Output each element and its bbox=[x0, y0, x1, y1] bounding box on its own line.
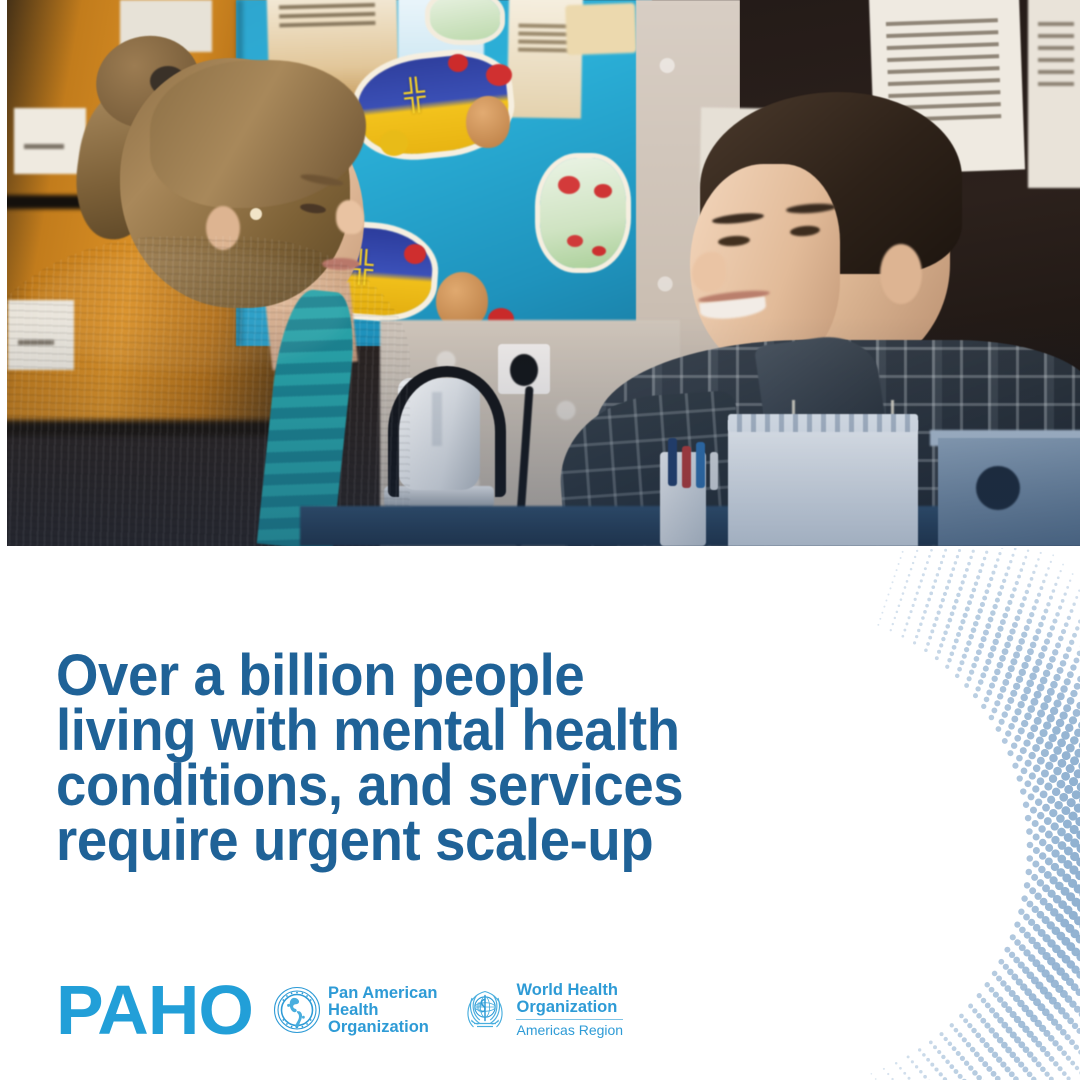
social-media-card: ╬ ╬ bbox=[0, 0, 1080, 1080]
who-logo-line-2: Organization bbox=[516, 999, 623, 1016]
paho-logo-line-1: Pan American bbox=[328, 985, 437, 1002]
paho-logo-text: Pan American Health Organization bbox=[328, 985, 437, 1036]
halftone-arc-svg bbox=[830, 548, 1080, 1080]
paho-logo-line-2: Health bbox=[328, 1002, 437, 1019]
paho-logo-line-3: Organization bbox=[328, 1019, 437, 1036]
world-health-organization-logo: World Health Organization Americas Regio… bbox=[461, 982, 623, 1038]
photo-left-margin bbox=[0, 0, 7, 546]
hero-photo: ╬ ╬ bbox=[0, 0, 1080, 546]
photo-color-grade bbox=[0, 0, 1080, 546]
page-title: Over a billion people living with mental… bbox=[56, 648, 808, 868]
halftone-arc bbox=[830, 548, 1080, 1080]
who-divider bbox=[516, 1019, 623, 1020]
who-logo-name: World Health Organization bbox=[516, 982, 623, 1016]
who-logo-line-1: World Health bbox=[516, 982, 623, 999]
who-logo-text: World Health Organization Americas Regio… bbox=[516, 982, 623, 1038]
who-emblem-icon bbox=[461, 986, 509, 1034]
paho-seal-icon bbox=[273, 986, 321, 1034]
who-region-label: Americas Region bbox=[516, 1022, 623, 1038]
pan-american-health-organization-logo: Pan American Health Organization bbox=[273, 985, 437, 1036]
paho-wordmark: PAHO bbox=[56, 975, 253, 1045]
logo-lockup: PAHO bbox=[56, 975, 623, 1045]
